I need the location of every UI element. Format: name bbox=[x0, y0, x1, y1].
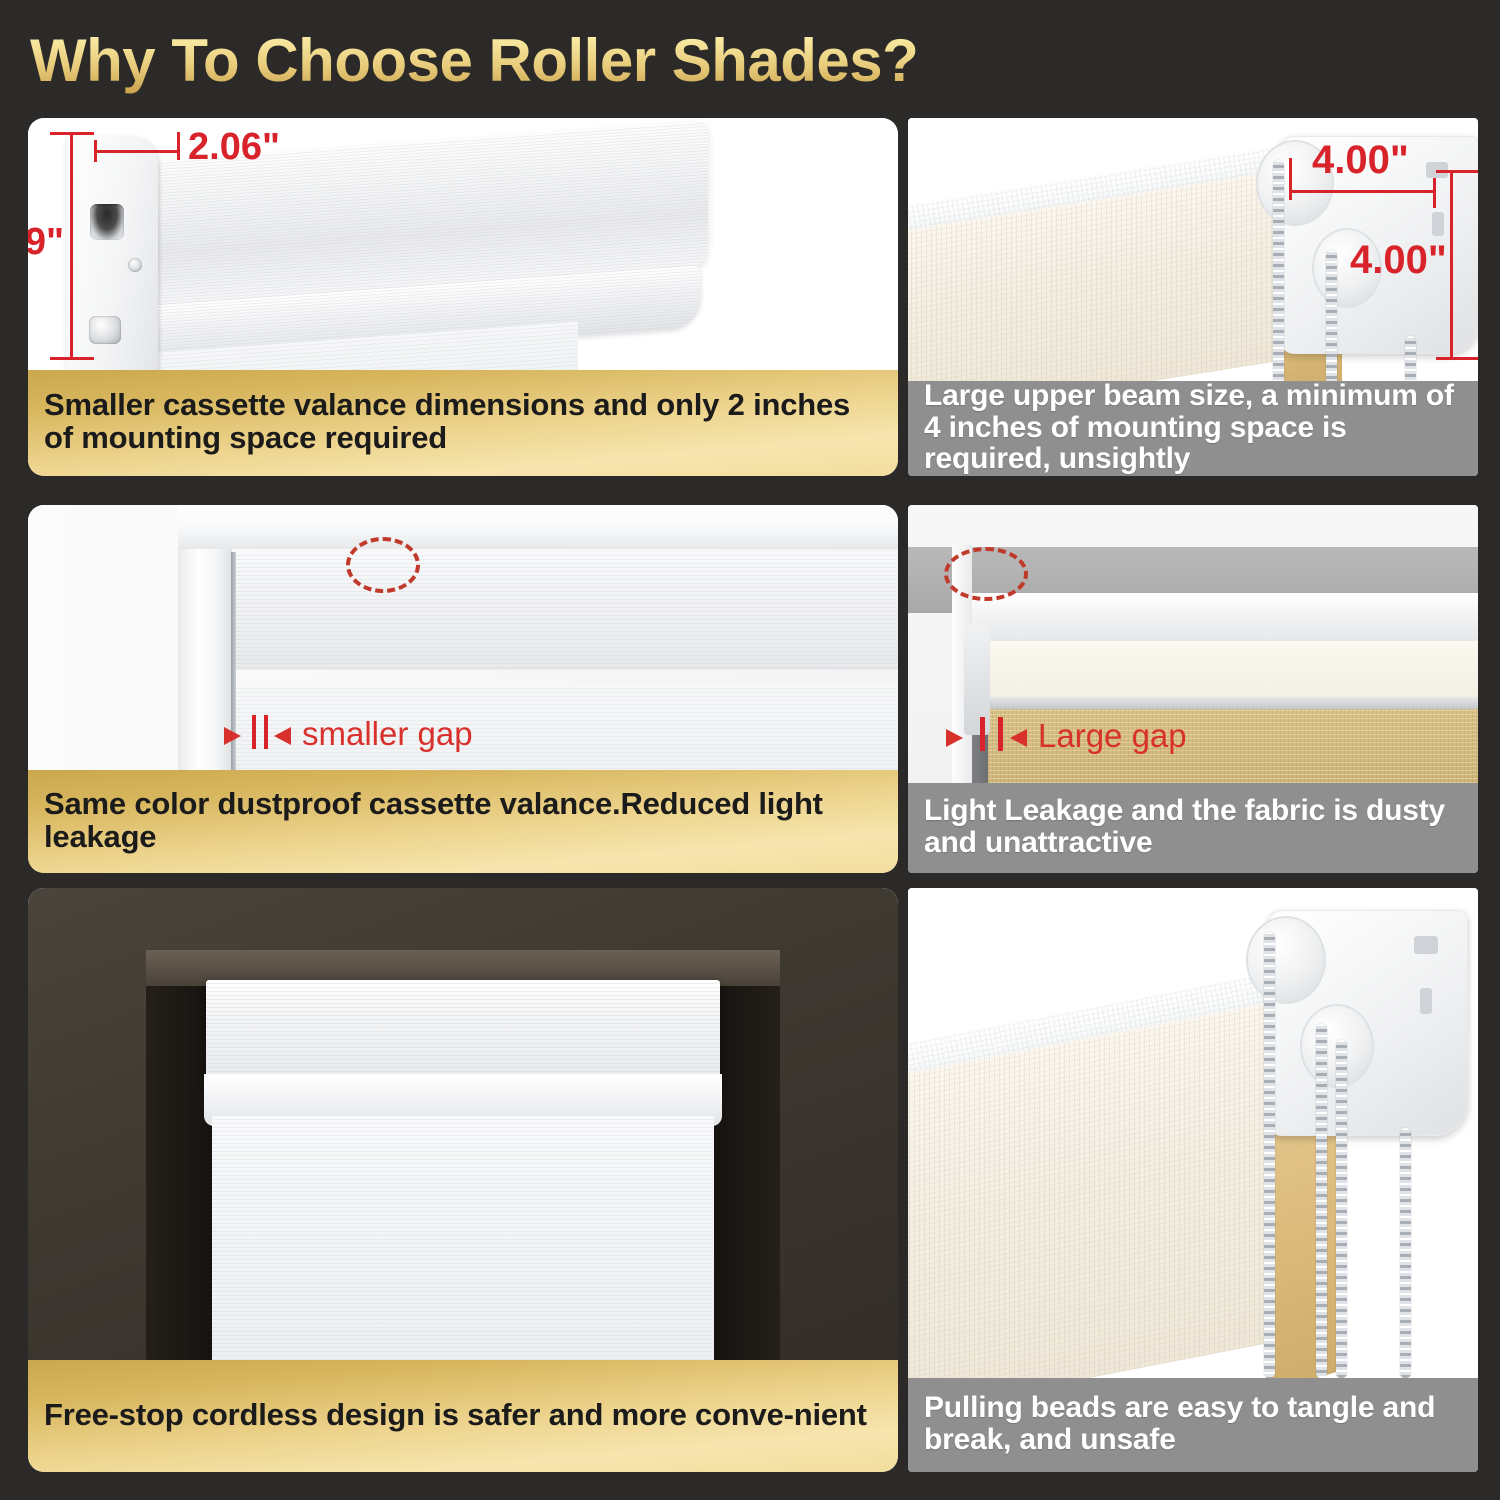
gap-arrow-right-icon bbox=[224, 727, 241, 745]
bracket-notch-mid bbox=[1420, 988, 1432, 1014]
caption-text: Smaller cassette valance dimensions and … bbox=[44, 389, 882, 455]
height-dimension-tick-top bbox=[50, 132, 94, 135]
panel-caption-good: Smaller cassette valance dimensions and … bbox=[28, 370, 898, 476]
panel-cassette-dimensions: 2.06" 5.49" Smaller cassette valance dim… bbox=[28, 118, 898, 476]
cassette-valance-photo: 2.06" 5.49" bbox=[28, 118, 898, 388]
panel-caption-bad: Pulling beads are easy to tangle and bre… bbox=[908, 1378, 1478, 1472]
width-dimension-tick-left bbox=[94, 140, 97, 162]
gap-arrow-left-icon bbox=[274, 727, 291, 745]
beam-width-dimension-line bbox=[1291, 190, 1435, 193]
gap-arrow-left-icon bbox=[1010, 729, 1027, 747]
cassette-valance-mounted bbox=[206, 980, 720, 1084]
caption-text: Pulling beads are easy to tangle and bre… bbox=[924, 1392, 1462, 1456]
beam-width-label: 4.00" bbox=[1312, 140, 1409, 180]
roller-shade-beam-photo: 4.00" 4.00" bbox=[908, 118, 1478, 386]
panel-light-leakage: Large gap Light Leakage and the fabric i… bbox=[908, 505, 1478, 873]
cassette-valance-installed bbox=[233, 552, 898, 670]
highlight-circle-icon bbox=[944, 547, 1028, 601]
caption-text: Same color dustproof cassette valance.Re… bbox=[44, 788, 882, 854]
bead-chain-mid-2 bbox=[1336, 1040, 1347, 1378]
pulling-beads-photo bbox=[908, 888, 1478, 1378]
height-dimension-label: 5.49" bbox=[28, 223, 64, 261]
beam-height-tick-top bbox=[1436, 170, 1478, 173]
height-dimension-line bbox=[70, 132, 73, 360]
roller-end-cap-top bbox=[1246, 916, 1326, 1004]
bead-chain-right bbox=[1400, 1128, 1411, 1378]
bracket-clip-icon bbox=[89, 316, 121, 344]
beam-height-tick-bottom bbox=[1436, 357, 1478, 360]
caption-text: Free-stop cordless design is safer and m… bbox=[44, 1399, 867, 1432]
gap-arrow-right-icon bbox=[946, 729, 963, 747]
height-dimension-tick-bottom bbox=[50, 357, 94, 360]
infographic-root: Why To Choose Roller Shades? 2.06" 5.49"… bbox=[0, 0, 1500, 1500]
bracket-notch-mid bbox=[1432, 212, 1444, 236]
panel-cordless-design: Free-stop cordless design is safer and m… bbox=[28, 888, 898, 1472]
gap-callout-label: smaller gap bbox=[302, 717, 473, 750]
shade-rail bbox=[970, 697, 1478, 709]
page-title: Why To Choose Roller Shades? bbox=[30, 22, 1230, 100]
shade-panel bbox=[212, 1116, 714, 1366]
gap-tick-left bbox=[980, 717, 985, 751]
dustproof-valance-photo: smaller gap bbox=[28, 505, 898, 777]
window-frame-header bbox=[178, 505, 898, 549]
bracket-notch-top bbox=[1414, 936, 1438, 954]
gap-callout-label: Large gap bbox=[1038, 719, 1187, 752]
roller-mechanism bbox=[964, 625, 990, 735]
bracket-slot-icon bbox=[90, 204, 124, 240]
width-dimension-tick-right bbox=[177, 132, 180, 160]
width-dimension-line bbox=[94, 150, 180, 153]
bracket-screw-icon bbox=[128, 258, 142, 272]
gap-tick-left bbox=[252, 715, 256, 749]
panel-upper-beam-size: 4.00" 4.00" Large upper beam size, a min… bbox=[908, 118, 1478, 476]
shade-fabric-back bbox=[1266, 1103, 1344, 1378]
gap-tick-right bbox=[264, 715, 268, 749]
panel-caption-bad: Light Leakage and the fabric is dusty an… bbox=[908, 783, 1478, 873]
light-leakage-photo: Large gap bbox=[908, 505, 1478, 783]
panel-dustproof-valance: smaller gap Same color dustproof cassett… bbox=[28, 505, 898, 873]
beam-width-tick-left bbox=[1289, 158, 1292, 200]
caption-text: Large upper beam size, a minimum of 4 in… bbox=[924, 380, 1462, 475]
cordless-design-photo bbox=[28, 888, 898, 1366]
bead-chain-mid bbox=[1316, 1024, 1327, 1378]
fabric-top-band bbox=[974, 641, 1478, 699]
beam-width-tick-right bbox=[1433, 178, 1436, 208]
panel-caption-bad: Large upper beam size, a minimum of 4 in… bbox=[908, 381, 1478, 476]
beam-height-label: 4.00" bbox=[1350, 240, 1447, 280]
highlight-circle-icon bbox=[346, 537, 420, 593]
window-casing-right bbox=[710, 950, 780, 1366]
width-dimension-label: 2.06" bbox=[188, 128, 280, 166]
beam-height-dimension-line bbox=[1450, 170, 1453, 360]
bead-chain-mid bbox=[1326, 250, 1337, 386]
panel-caption-good: Free-stop cordless design is safer and m… bbox=[28, 1360, 898, 1472]
panel-caption-good: Same color dustproof cassette valance.Re… bbox=[28, 770, 898, 873]
gap-tick-right bbox=[998, 717, 1003, 751]
bead-chain-left bbox=[1273, 160, 1284, 386]
bead-chain-left bbox=[1264, 932, 1275, 1378]
caption-text: Light Leakage and the fabric is dusty an… bbox=[924, 795, 1462, 859]
panel-pulling-beads: Pulling beads are easy to tangle and bre… bbox=[908, 888, 1478, 1472]
